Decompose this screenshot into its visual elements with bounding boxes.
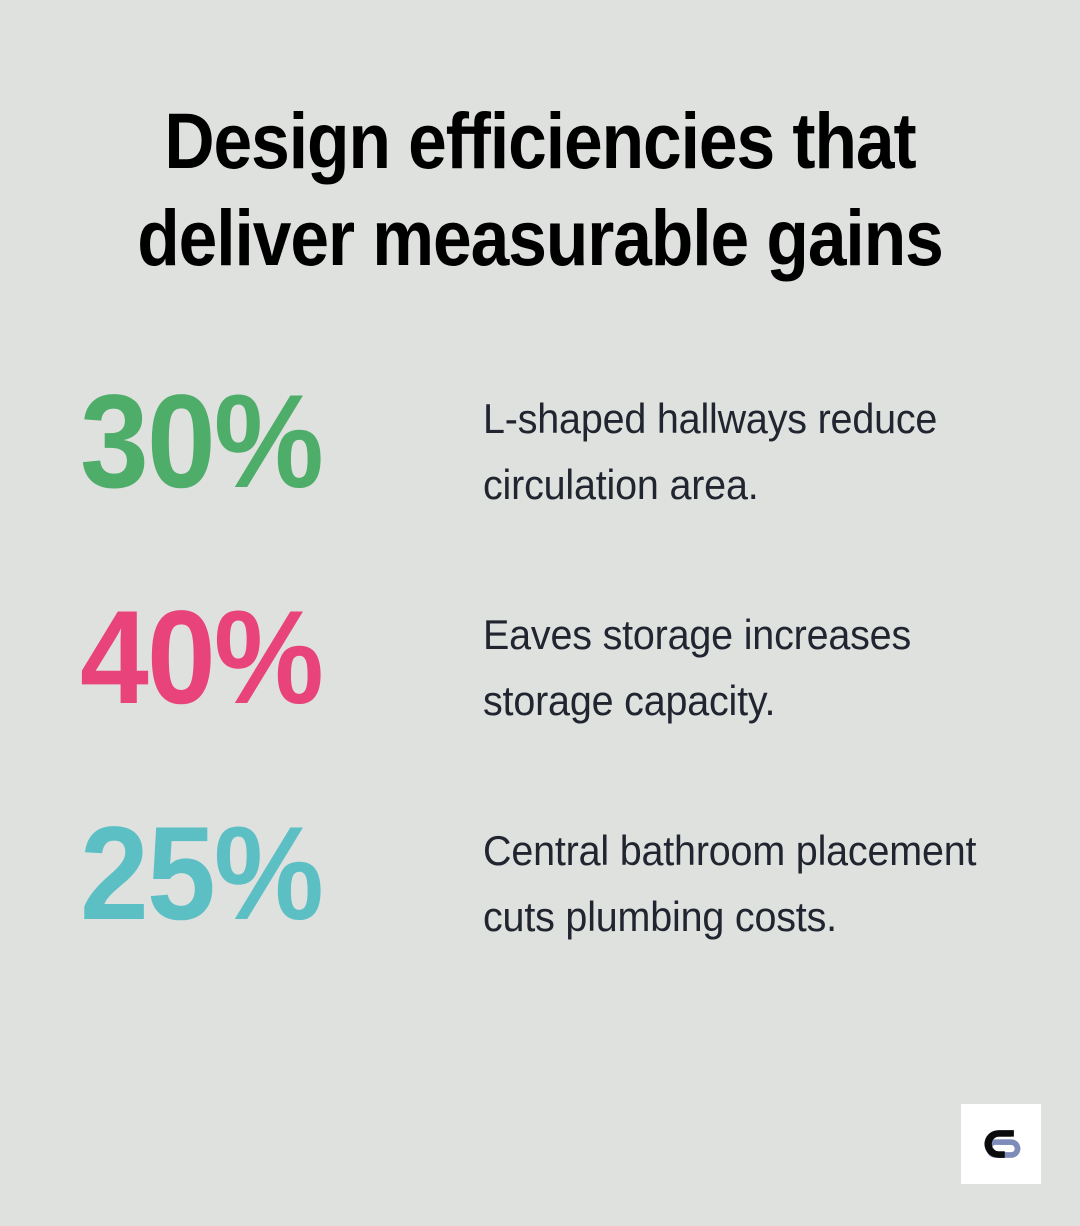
stat-description-2: Central bathroom placement cuts plumbing… [483,818,981,950]
brand-s-logo-icon [978,1121,1024,1167]
page-title-line-1: Design efficiencies that [118,92,963,189]
infographic-canvas: Design efficiencies that deliver measura… [0,0,1080,1226]
stat-row: 40% Eaves storage increases storage capa… [0,588,1080,804]
stat-value-1: 40% [80,596,455,721]
statistics-list: 30% L-shaped hallways reduce circulation… [0,372,1080,1024]
stat-row: 25% Central bathroom placement cuts plum… [0,804,1080,1024]
page-title: Design efficiencies that deliver measura… [0,92,1080,286]
stat-description-1: Eaves storage increases storage capacity… [483,602,981,734]
logo-badge [961,1104,1041,1184]
stat-row: 30% L-shaped hallways reduce circulation… [0,372,1080,588]
stat-description-0: L-shaped hallways reduce circulation are… [483,386,981,518]
stat-value-0: 30% [80,380,455,505]
stat-value-2: 25% [80,812,455,937]
page-title-line-2: deliver measurable gains [118,189,963,286]
